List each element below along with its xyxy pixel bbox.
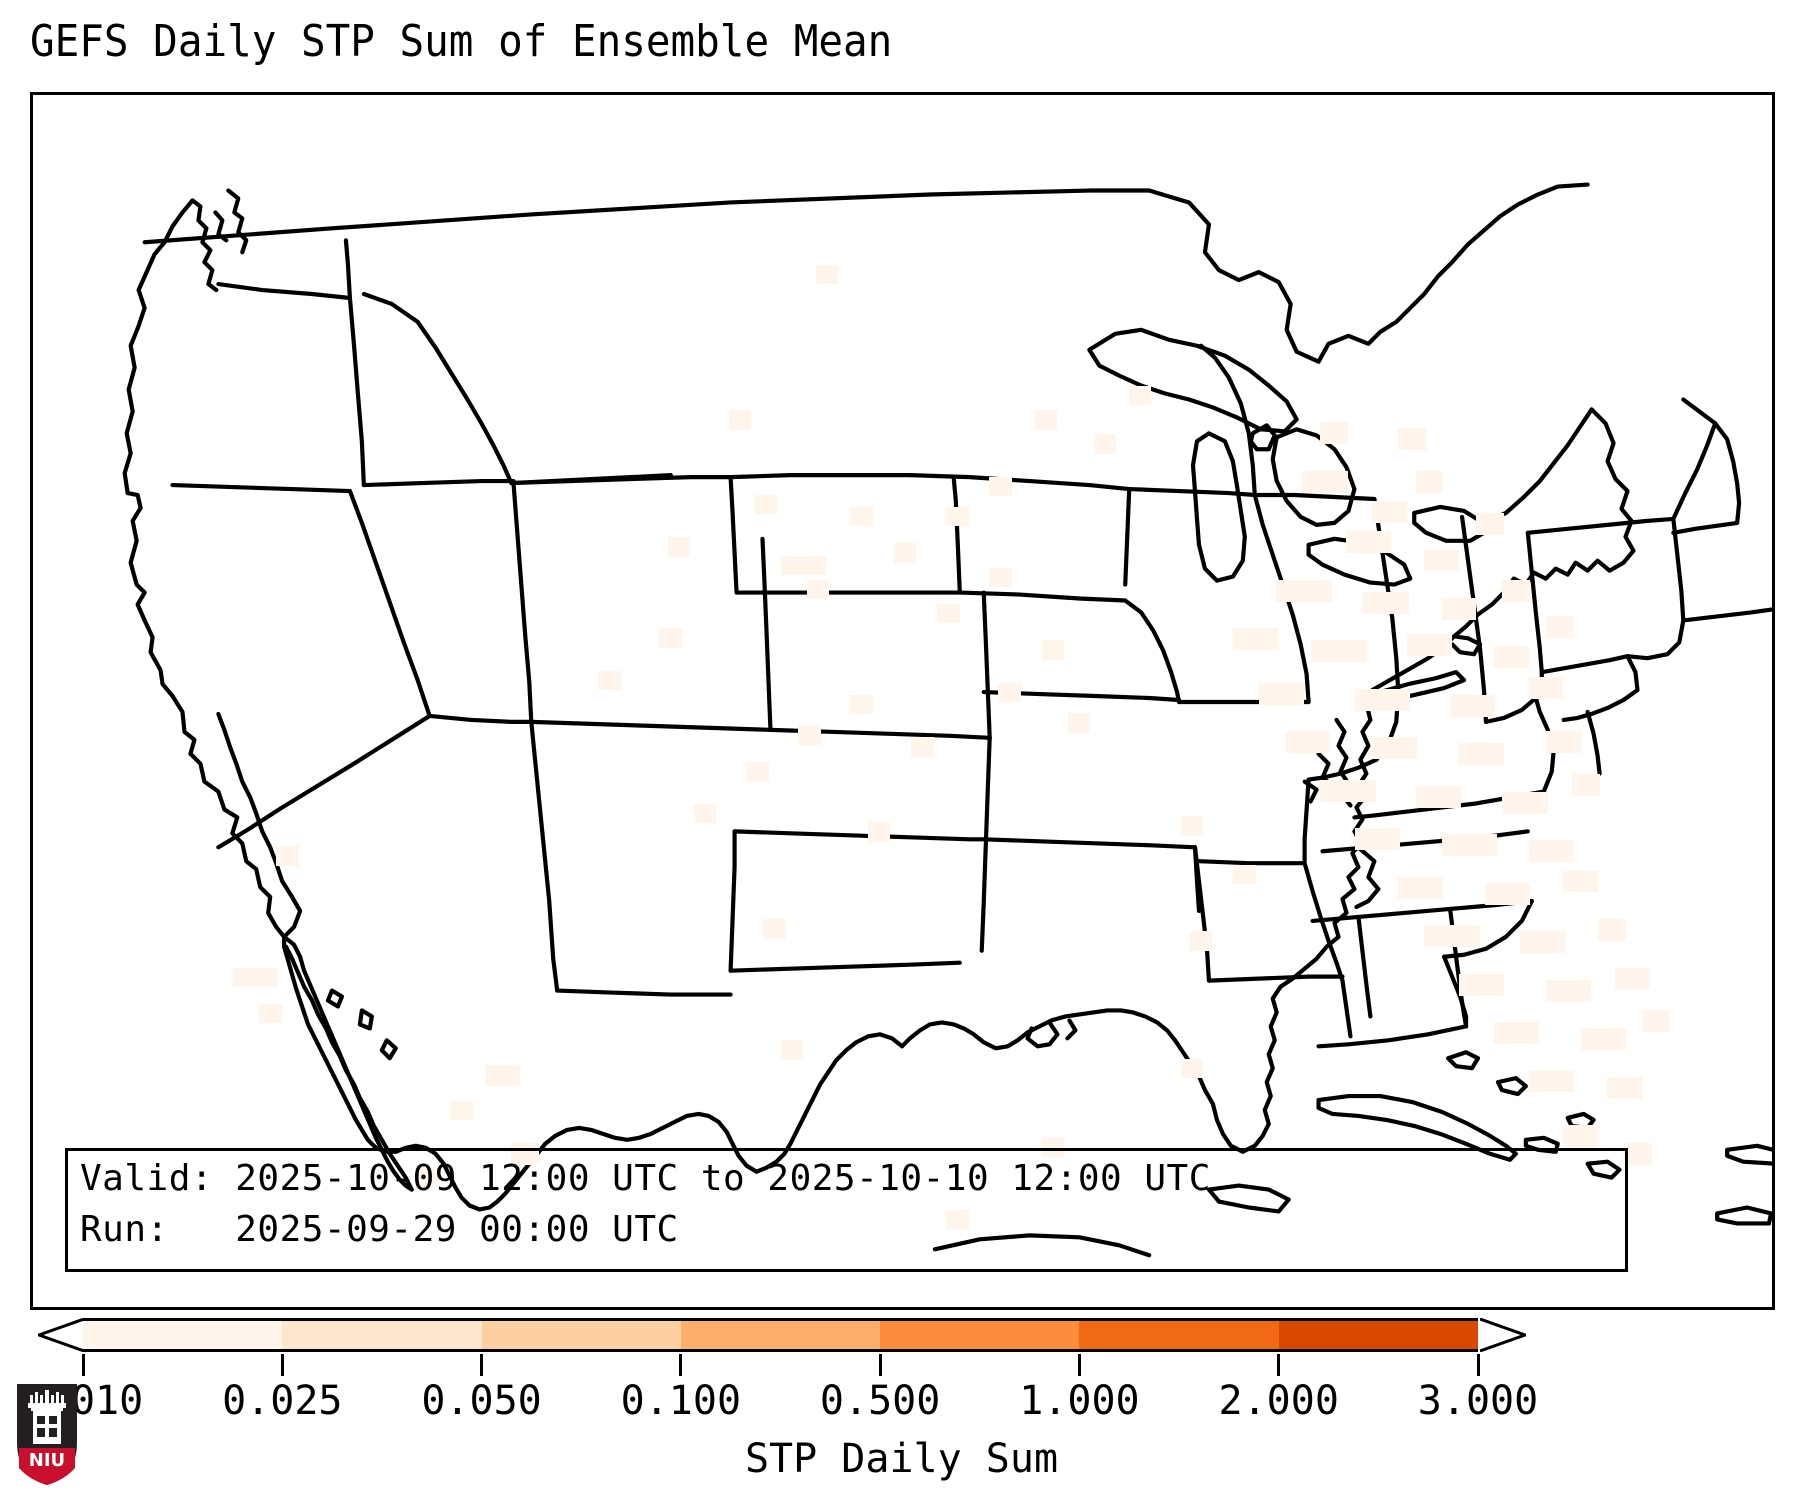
colorbar-tick-7	[1477, 1354, 1480, 1376]
valid-time-text: Valid: 2025-10-09 12:00 UTC to 2025-10-1…	[80, 1158, 1211, 1199]
colorbar-segment-1	[282, 1321, 481, 1349]
colorbar-tick-2	[480, 1354, 483, 1376]
colorbar-tick-label-7: 3.000	[1418, 1378, 1538, 1424]
colorbar-segment-4	[880, 1321, 1079, 1349]
colorbar-tick-4	[879, 1354, 882, 1376]
valid-run-info-box: Valid: 2025-10-09 12:00 UTC to 2025-10-1…	[65, 1148, 1628, 1272]
colorbar-tick-1	[281, 1354, 284, 1376]
page-title: GEFS Daily STP Sum of Ensemble Mean	[30, 16, 892, 67]
colorbar-tick-6	[1277, 1354, 1280, 1376]
colorbar-tick-3	[679, 1354, 682, 1376]
colorbar-tick-label-1: 0.025	[222, 1378, 342, 1424]
colorbar-segment-3	[681, 1321, 880, 1349]
colorbar-segment-2	[482, 1321, 681, 1349]
niu-logo[interactable]: NIU	[14, 1382, 80, 1487]
niu-logo-text: NIU	[29, 1450, 65, 1471]
colorbar-over-arrow-outline	[1480, 1318, 1526, 1352]
colorbar-under-arrow-outline	[38, 1318, 84, 1352]
colorbar-tick-label-6: 2.000	[1218, 1378, 1338, 1424]
colorbar-tick-5	[1078, 1354, 1081, 1376]
colorbar-segment-5	[1079, 1321, 1278, 1349]
colorbar: 0.0100.0250.0500.1000.5001.0002.0003.000…	[0, 1310, 1803, 1500]
colorbar-tick-0	[82, 1354, 85, 1376]
colorbar-segment-0	[83, 1321, 282, 1349]
colorbar-tick-label-4: 0.500	[820, 1378, 940, 1424]
run-time-text: Run: 2025-09-29 00:00 UTC	[80, 1209, 679, 1250]
colorbar-gradient[interactable]	[83, 1318, 1478, 1352]
map-plot-area	[30, 92, 1775, 1310]
basemap-borders	[33, 95, 1772, 1307]
colorbar-tick-label-5: 1.000	[1019, 1378, 1139, 1424]
colorbar-segment-6	[1279, 1321, 1478, 1349]
colorbar-axis-label: STP Daily Sum	[0, 1436, 1803, 1482]
colorbar-tick-label-3: 0.100	[621, 1378, 741, 1424]
colorbar-tick-label-2: 0.050	[421, 1378, 541, 1424]
